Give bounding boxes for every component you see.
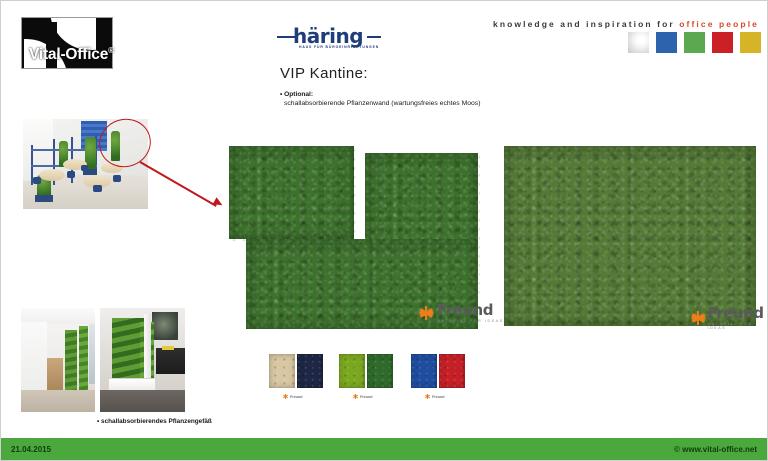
render-chair <box>113 175 121 182</box>
photo-cabinet <box>156 348 185 374</box>
color-sample-beige <box>269 354 295 388</box>
photo-wall <box>21 322 47 394</box>
slide-footer: 21.04.2015 © www.vital-office.net <box>1 438 767 460</box>
header-color-swatches <box>628 32 761 53</box>
bullet-label: • Optional: <box>280 91 313 98</box>
render-chair <box>81 165 88 171</box>
freund-watermark-text: Freund MATERIAL FOR IDEAS <box>437 303 504 324</box>
photo-planter-green-wall <box>100 308 185 412</box>
freund-name: Freund <box>432 394 444 399</box>
footer-copyright[interactable]: © www.vital-office.net <box>674 445 757 454</box>
swatch-gold <box>740 32 761 53</box>
color-sample-darkgreen <box>367 354 393 388</box>
photo-accent-object <box>162 346 174 350</box>
swatch-red <box>712 32 733 53</box>
swatch-green <box>684 32 705 53</box>
photo-window <box>89 324 95 384</box>
swatch-white <box>628 32 649 53</box>
freund-mini-logo: Freund <box>353 394 393 399</box>
photo-caption: • schallabsorbierendes Pflanzengefäß <box>97 418 212 425</box>
color-sample-pair <box>269 354 323 388</box>
haring-logo-subtitle: HAUS FÜR BÜROEINRICHTUNGEN <box>299 45 379 49</box>
photo-artwork <box>152 312 178 340</box>
header-tagline: knowledge and inspiration for office peo… <box>493 19 759 29</box>
photo-green-wall <box>65 330 77 396</box>
render-chair <box>33 177 41 184</box>
freund-star-icon <box>283 394 288 399</box>
footer-date: 21.04.2015 <box>11 445 51 454</box>
freund-star-icon <box>691 311 703 325</box>
pointer-arrow-line <box>139 161 216 207</box>
photo-green-wall <box>79 326 88 396</box>
freund-star-icon <box>353 394 358 399</box>
render-chair <box>67 171 75 178</box>
tagline-main: knowledge and inspiration for <box>493 19 679 29</box>
freund-name: Freund <box>290 394 302 399</box>
vital-office-logo-text: Vital-Office® <box>29 46 114 64</box>
photo-floor <box>21 390 95 412</box>
color-sample-navy <box>297 354 323 388</box>
freund-watermark: Freund MATERIAL FOR IDEAS <box>419 303 504 324</box>
freund-star-icon <box>425 394 430 399</box>
color-sample-group: Freund <box>339 354 393 399</box>
color-sample-lime <box>339 354 365 388</box>
color-sample-red <box>439 354 465 388</box>
render-planter <box>35 195 53 202</box>
freund-subtitle: MATERIAL FOR IDEAS <box>437 320 504 324</box>
haring-rule-right <box>367 36 381 38</box>
logo-registered-mark: ® <box>108 46 114 55</box>
bullet-description: schallabsorbierende Pflanzenwand (wartun… <box>284 100 480 107</box>
haring-logo: häring HAUS FÜR BÜROEINRICHTUNGEN <box>277 23 381 53</box>
photo-floor <box>100 390 185 412</box>
presentation-slide: Vital-Office® knowledge and inspiration … <box>0 0 768 461</box>
freund-name: Freund <box>437 303 504 318</box>
color-sample-group: Freund <box>411 354 465 399</box>
swatch-blue <box>656 32 677 53</box>
freund-star-icon <box>419 306 433 320</box>
freund-name: Freund <box>707 306 767 321</box>
color-sample-group: Freund <box>269 354 323 399</box>
freund-mini-logo: Freund <box>425 394 465 399</box>
color-sample-pair <box>411 354 465 388</box>
freund-watermark: Freund MATERIAL FOR IDEAS <box>691 306 767 330</box>
freund-subtitle: MATERIAL FOR IDEAS <box>707 323 767 330</box>
render-chair <box>93 185 102 192</box>
photo-corridor-green-wall <box>21 308 95 412</box>
moss-panel-top-left <box>229 146 354 239</box>
color-sample-blue <box>411 354 437 388</box>
tagline-accent: office people <box>679 19 759 29</box>
freund-watermark-text: Freund MATERIAL FOR IDEAS <box>707 306 767 330</box>
logo-word: Vital-Office <box>29 46 108 63</box>
page-title: VIP Kantine: <box>280 65 368 82</box>
render-table <box>39 169 65 181</box>
pointer-arrow-head <box>213 197 225 208</box>
freund-name: Freund <box>360 394 372 399</box>
color-sample-pair <box>339 354 393 388</box>
freund-mini-logo: Freund <box>283 394 323 399</box>
moss-panel-large-right <box>504 146 756 326</box>
